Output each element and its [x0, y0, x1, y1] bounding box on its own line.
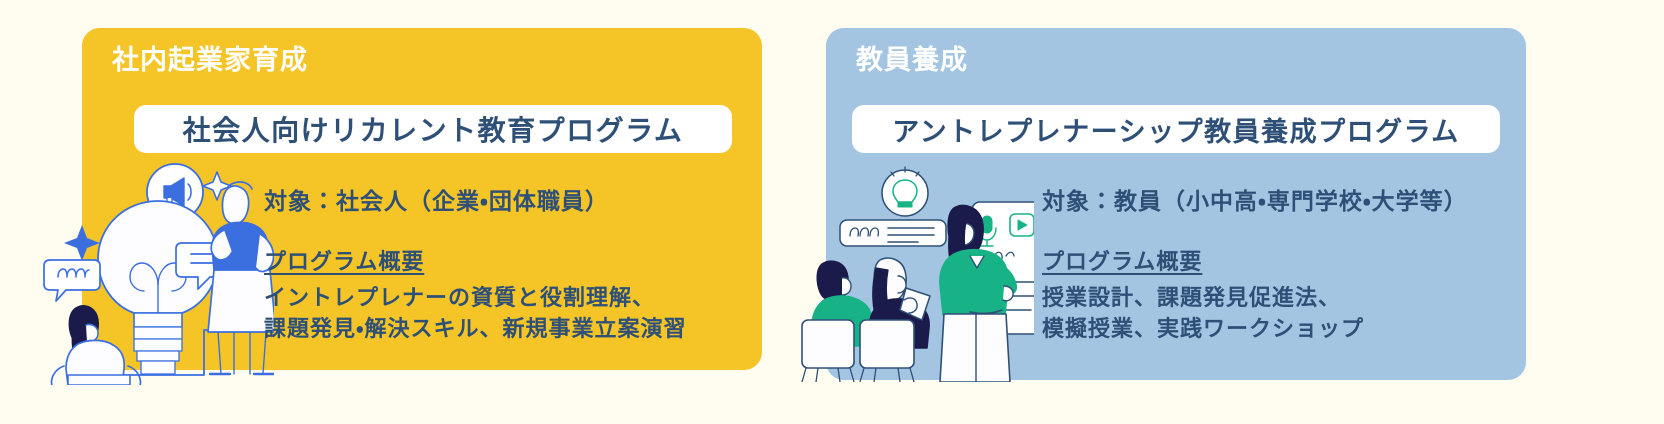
ribbon-label-teacher-training: 教員養成 — [856, 38, 968, 77]
body-teacher-training: 対象：教員（小中高・専門学校・大学等） プログラム概要 授業設計、課題発見促進法… — [1042, 182, 1468, 344]
ribbon-teacher-training: 教員養成 — [826, 28, 1086, 86]
ribbon-label-internal-entrepreneur: 社内起業家育成 — [112, 38, 308, 77]
overview-line-1-teacher-training: 授業設計、課題発見促進法、 — [1042, 282, 1468, 313]
body-internal-entrepreneur: 対象：社会人（企業・団体職員） プログラム概要 イントレプレナーの資質と役割理解… — [264, 182, 686, 344]
program-title-pill-internal-entrepreneur: 社会人向けリカレント教育プログラム — [134, 105, 732, 153]
overview-line-1-internal-entrepreneur: イントレプレナーの資質と役割理解、 — [264, 282, 686, 313]
overview-heading-teacher-training: プログラム概要 — [1042, 244, 1468, 276]
program-title-pill-teacher-training: アントレプレナーシップ教員養成プログラム — [852, 105, 1500, 153]
overview-line-2-internal-entrepreneur: 課題発見・解決スキル、新規事業立案演習 — [264, 313, 686, 344]
overview-heading-internal-entrepreneur: プログラム概要 — [264, 244, 686, 276]
program-title-internal-entrepreneur: 社会人向けリカレント教育プログラム — [183, 109, 684, 149]
target-label-internal-entrepreneur: 対象：社会人（企業・団体職員） — [264, 182, 686, 216]
ribbon-internal-entrepreneur: 社内起業家育成 — [82, 28, 344, 86]
target-label-teacher-training: 対象：教員（小中高・専門学校・大学等） — [1042, 182, 1468, 216]
poster-canvas: 社内起業家育成 社会人向けリカレント教育プログラム 対象：社会人（企業・団体職員… — [0, 0, 1664, 424]
overview-line-2-teacher-training: 模擬授業、実践ワークショップ — [1042, 313, 1468, 344]
program-title-teacher-training: アントレプレナーシップ教員養成プログラム — [892, 110, 1460, 149]
